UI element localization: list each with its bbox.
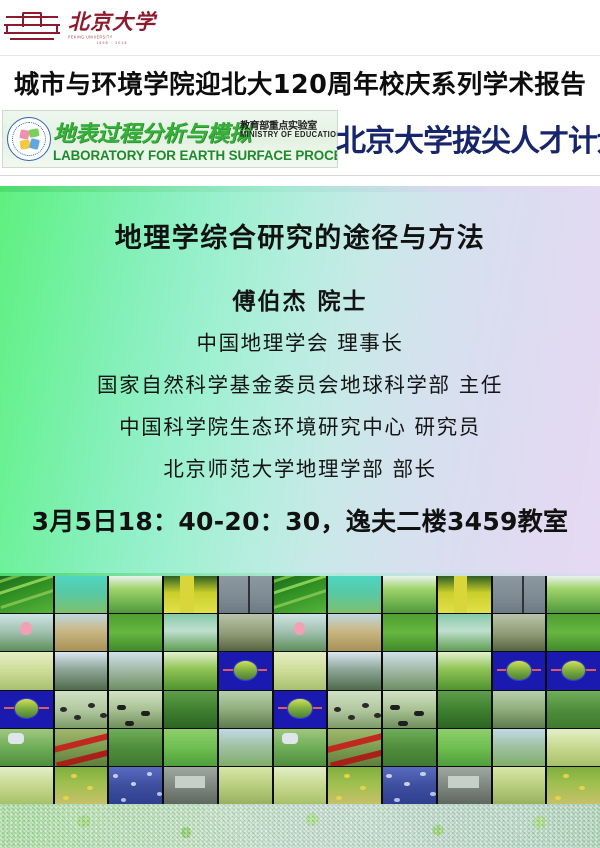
mosaic-tile-lake	[493, 729, 546, 766]
mosaic-tile-greenfield	[438, 652, 491, 689]
speaker-affiliation: 中国科学院生态环境研究中心 研究员	[0, 410, 600, 440]
mosaic-tile-orchard	[547, 767, 600, 804]
mosaic-tile-mountain	[328, 652, 381, 689]
speaker-affiliation: 中国地理学会 理事长	[0, 326, 600, 356]
mosaic-tile-redmachine	[328, 729, 381, 766]
mosaic-tile-mountain	[55, 652, 108, 689]
mosaic-tile-orchard	[328, 767, 381, 804]
mosaic-tile-emblem	[0, 691, 53, 728]
mosaic-tile-forest	[438, 691, 491, 728]
mosaic-tile-bamboo	[438, 576, 491, 613]
speaker-name: 傅伯杰 院士	[0, 282, 600, 316]
mosaic-tile-field2	[219, 767, 272, 804]
mosaic-tile-erosion	[493, 691, 546, 728]
mosaic-tile-lotusflower	[274, 614, 327, 651]
mosaic-tile-forest	[164, 691, 217, 728]
lab-name-en: LABORATORY FOR EARTH SURFACE PROCESSES （…	[53, 144, 338, 164]
photo-mosaic	[0, 576, 600, 804]
lesp-logo-icon	[7, 117, 51, 161]
mosaic-tile-station	[164, 767, 217, 804]
mosaic-tile-ricepaddy	[547, 614, 600, 651]
mosaic-tile-cattle	[383, 691, 436, 728]
series-title-band: 城市与环境学院迎北大120周年校庆系列学术报告	[0, 56, 600, 108]
mosaic-tile-wheat	[547, 729, 600, 766]
mosaic-tile-farmland	[547, 576, 600, 613]
mosaic-tile-farmland	[109, 576, 162, 613]
mosaic-tile-greenhouse	[493, 576, 546, 613]
speaker-affiliation: 国家自然科学基金委员会地球科学部 主任	[0, 368, 600, 398]
mosaic-tile-terrace	[383, 729, 436, 766]
mosaic-tile-seagrass	[328, 576, 381, 613]
lab-banner-band: 地表过程分析与模拟 教育部重点实验室 MINISTRY OF EDUCATION…	[0, 108, 600, 186]
mosaic-tile-sheep	[55, 691, 108, 728]
mosaic-tile-farmland	[383, 576, 436, 613]
mosaic-tile-redmachine	[55, 729, 108, 766]
mosaic-tile-wetland	[328, 614, 381, 651]
mosaic-tile-terrace	[547, 691, 600, 728]
mosaic-tile-riverbank	[438, 614, 491, 651]
mosaic-tile-erosion	[219, 691, 272, 728]
mosaic-tile-crocodile	[219, 614, 272, 651]
pku-logo-band: 北京大学 PEKING UNIVERSITY 1898 · 2018	[0, 0, 600, 56]
mosaic-tile-ricepaddy	[383, 614, 436, 651]
mosaic-tile-sensor	[0, 729, 53, 766]
pku-wordmark-en: PEKING UNIVERSITY	[68, 35, 156, 40]
mosaic-tile-seagrass	[55, 576, 108, 613]
mosaic-tile-ricepaddy	[109, 614, 162, 651]
mosaic-tile-hills	[383, 652, 436, 689]
mosaic-tile-crocodile	[493, 614, 546, 651]
mosaic-tile-greenfield	[164, 652, 217, 689]
mosaic-tile-bamboo	[164, 576, 217, 613]
mosaic-tile-terrace	[109, 729, 162, 766]
mosaic-tile-crowd	[383, 767, 436, 804]
mosaic-tile-wetland	[55, 614, 108, 651]
mosaic-tile-wheat	[0, 767, 53, 804]
talk-title: 地理学综合研究的途径与方法	[0, 216, 600, 255]
mosaic-tile-orchard	[55, 767, 108, 804]
mosaic-tile-marsh	[438, 729, 491, 766]
mosaic-tile-greenhouse	[219, 576, 272, 613]
mosaic-tile-riverbank	[164, 614, 217, 651]
mosaic-tile-emblem	[547, 652, 600, 689]
mosaic-tile-lotusleaf	[0, 576, 53, 613]
pku-wordmark-cn: 北京大学	[68, 11, 156, 33]
mosaic-tile-crowd	[109, 767, 162, 804]
talent-plan-title: 北京大学拔尖人才计划	[336, 116, 600, 160]
mosaic-tile-marsh	[164, 729, 217, 766]
mosaic-tile-wheat	[274, 767, 327, 804]
mosaic-tile-station	[438, 767, 491, 804]
pku-wordmark: 北京大学 PEKING UNIVERSITY 1898 · 2018	[68, 11, 156, 45]
mosaic-tile-grassland	[274, 652, 327, 689]
mosaic-tile-hills	[109, 652, 162, 689]
lab-banner-divider	[0, 175, 600, 176]
header-divider	[0, 55, 600, 56]
mosaic-tile-lotusleaf	[274, 576, 327, 613]
mosaic-tile-cattle	[109, 691, 162, 728]
pku-seal-icon	[4, 11, 60, 45]
speaker-affiliation: 北京师范大学地理学部 部长	[0, 452, 600, 482]
poster-body: 地理学综合研究的途径与方法 傅伯杰 院士 中国地理学会 理事长 国家自然科学基金…	[0, 186, 600, 576]
mosaic-tile-sheep	[328, 691, 381, 728]
mosaic-tile-emblem	[274, 691, 327, 728]
mosaic-tile-lake	[219, 729, 272, 766]
mosaic-tile-sensor	[274, 729, 327, 766]
mosaic-tile-lotusflower	[0, 614, 53, 651]
mosaic-tile-field2	[493, 767, 546, 804]
mosaic-tile-grassland	[0, 652, 53, 689]
bottom-texture-strip	[0, 804, 600, 848]
pku-wordmark-years: 1898 · 2018	[68, 41, 156, 45]
mosaic-tile-emblem	[219, 652, 272, 689]
ministry-name-en: MINISTRY OF EDUCATION	[240, 130, 338, 139]
talk-schedule: 3月5日18：40-20：30，逸夫二楼3459教室	[0, 502, 600, 538]
mosaic-tile-emblem	[493, 652, 546, 689]
series-title: 城市与环境学院迎北大120周年校庆系列学术报告	[14, 64, 586, 101]
lab-banner-box: 地表过程分析与模拟 教育部重点实验室 MINISTRY OF EDUCATION…	[2, 110, 338, 168]
